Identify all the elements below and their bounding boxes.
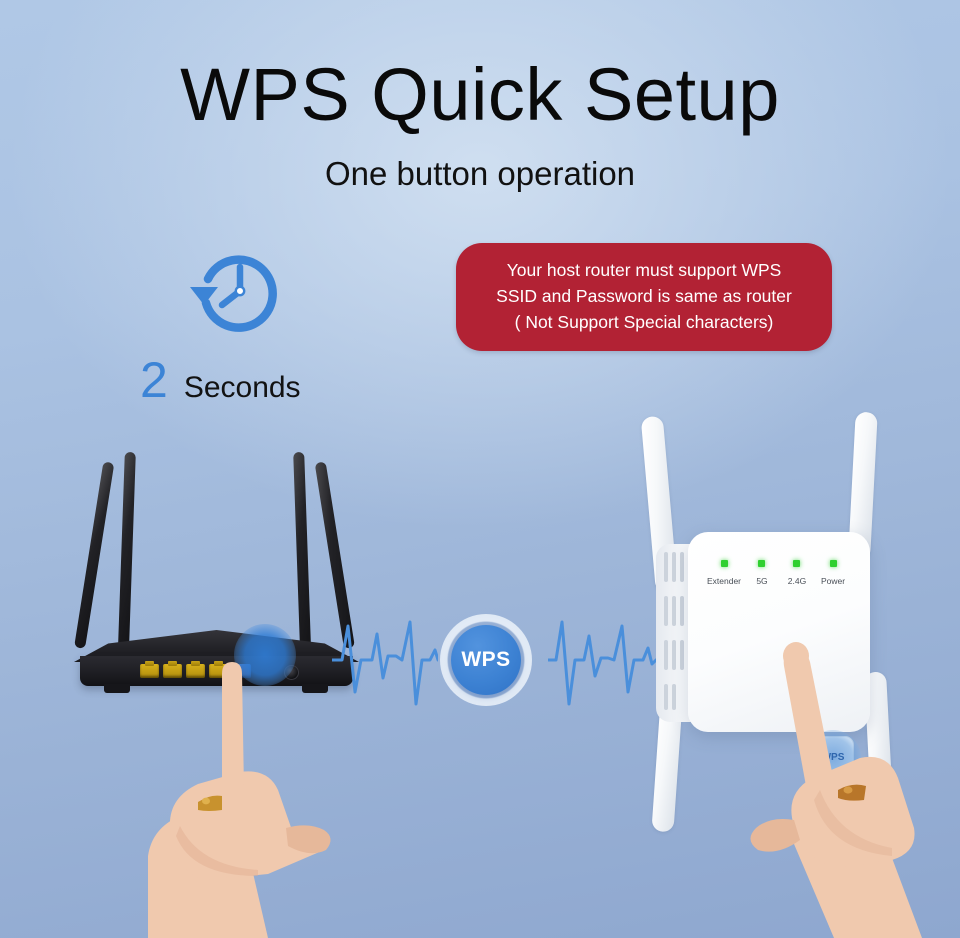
hand-pressing-router-button (118, 660, 388, 938)
led-power (830, 560, 837, 567)
wps-badge-label: WPS (461, 648, 510, 672)
led-2-4g (793, 560, 800, 567)
duration-value: 2 (140, 355, 168, 405)
router-antenna-2 (118, 452, 136, 648)
extender-vent (672, 640, 676, 670)
clock-rotate-left-icon (178, 243, 298, 347)
wps-quick-setup-infographic: WPS Quick Setup One button operation You… (0, 0, 960, 938)
page-title: WPS Quick Setup (0, 56, 960, 134)
extender-vent (672, 552, 676, 582)
extender-vent (672, 684, 676, 710)
duration-unit: Seconds (184, 373, 301, 403)
extender-vent (680, 596, 684, 626)
notice-line-3: ( Not Support Special characters) (456, 309, 832, 335)
extender-vent (664, 552, 668, 582)
led-label-power: Power (806, 576, 860, 586)
extender-vent (672, 596, 676, 626)
router-antenna-1 (74, 461, 114, 648)
extender-vent (680, 640, 684, 670)
led-extender (721, 560, 728, 567)
hand-pressing-extender-button (742, 630, 960, 938)
wps-badge-circle: WPS (451, 625, 521, 695)
requirement-notice: Your host router must support WPS SSID a… (456, 243, 832, 351)
extender-vent (664, 640, 668, 670)
page-subtitle: One button operation (0, 155, 960, 193)
extender-vent (664, 684, 668, 710)
notice-line-2: SSID and Password is same as router (456, 283, 832, 309)
router-antenna-3 (293, 452, 311, 648)
notice-line-1: Your host router must support WPS (456, 257, 832, 283)
extender-vent (664, 596, 668, 626)
duration-label: 2 Seconds (140, 355, 301, 405)
led-5g (758, 560, 765, 567)
extender-vent (680, 552, 684, 582)
wps-badge: WPS (440, 614, 532, 706)
